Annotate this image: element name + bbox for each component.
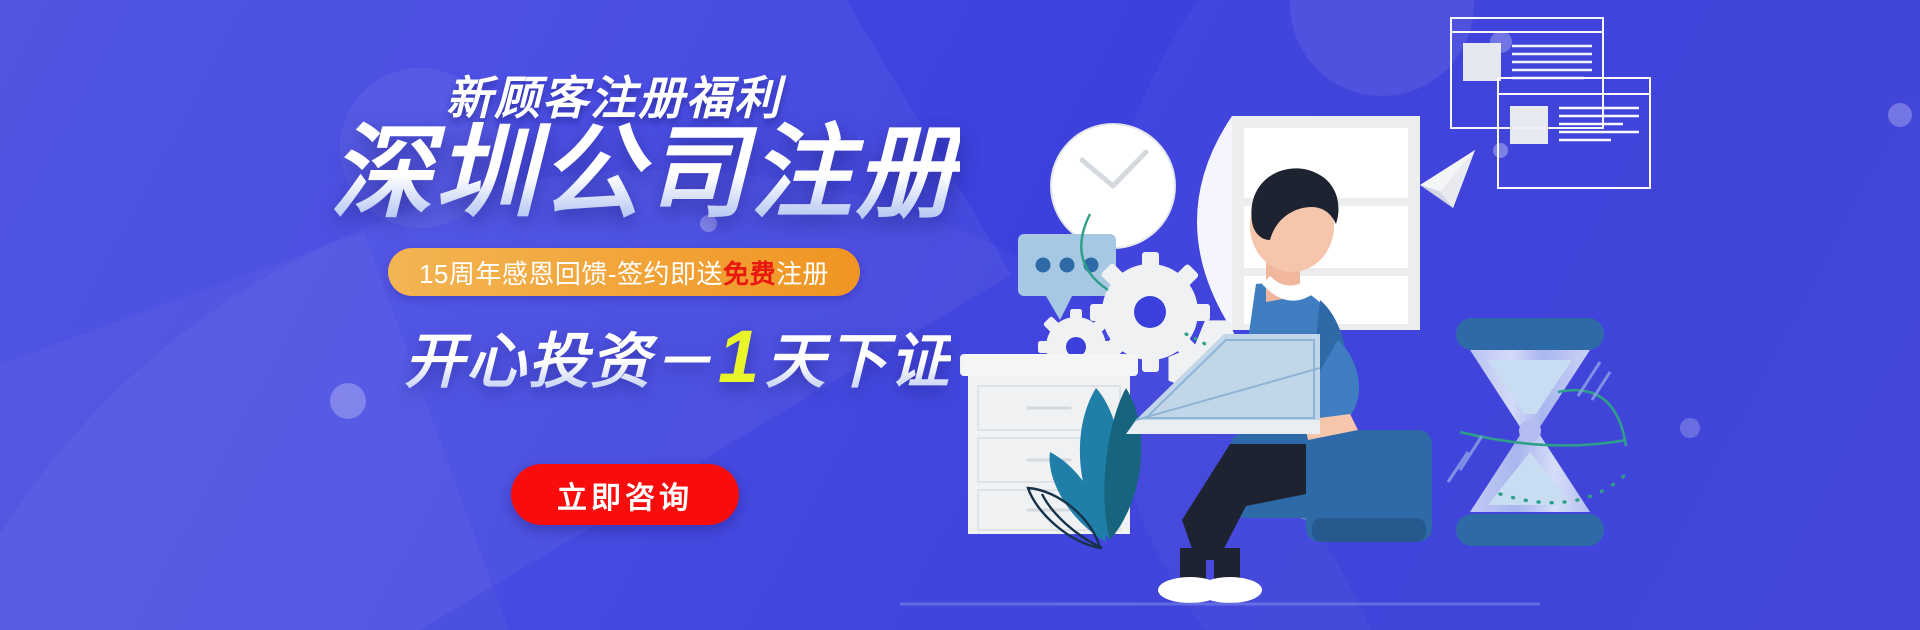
promo-banner: 新顾客注册福利 深圳公司注册 15周年感恩回馈-签约即送免费注册 开心投资－ 1… xyxy=(0,0,1920,630)
consult-now-button[interactable]: 立即咨询 xyxy=(511,464,739,525)
illustration xyxy=(900,0,1920,630)
laptop-base xyxy=(1126,420,1320,434)
paper-plane-icon xyxy=(1420,150,1475,208)
hourglass-cap-bottom xyxy=(1456,514,1604,546)
promo-badge-prefix: 15周年感恩回馈-签约即送 xyxy=(419,259,723,289)
clock-icon xyxy=(1051,124,1175,248)
promo-badge-highlight: 免费 xyxy=(723,259,776,289)
banner-copy: 新顾客注册福利 深圳公司注册 15周年感恩回馈-签约即送免费注册 开心投资－ 1… xyxy=(0,0,1000,630)
tagline-suffix: 天下证 xyxy=(765,313,951,400)
banner-tagline: 开心投资－ 1 天下证 xyxy=(404,313,951,400)
shoe xyxy=(1198,577,1262,603)
promo-badge-text: 15周年感恩回馈-签约即送免费注册 xyxy=(419,254,829,291)
promo-badge-suffix: 注册 xyxy=(776,259,829,289)
document-card-front xyxy=(1498,78,1650,188)
hourglass-cap-top xyxy=(1456,318,1604,350)
promo-badge: 15周年感恩回馈-签约即送免费注册 xyxy=(388,248,860,296)
hourglass-icon xyxy=(1448,318,1632,546)
page-title: 深圳公司注册 xyxy=(330,120,960,227)
tagline-prefix: 开心投资－ xyxy=(404,313,714,400)
tagline-number: 1 xyxy=(714,314,765,399)
